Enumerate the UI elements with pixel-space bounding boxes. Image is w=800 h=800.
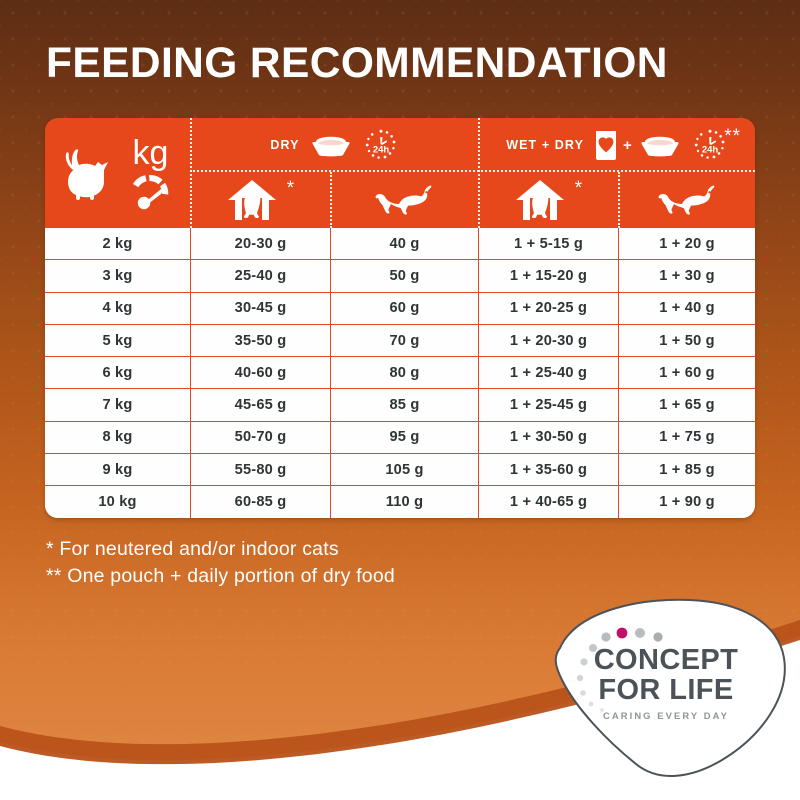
- footnote-1: * For neutered and/or indoor cats: [46, 536, 686, 563]
- table-cell-weight: 4 kg: [45, 293, 190, 324]
- 24h-clock-icon: 24h: [693, 128, 727, 162]
- table-cell-dry_active: 70 g: [330, 325, 478, 356]
- table-cell-wetdry_active: 1 + 30 g: [618, 260, 755, 291]
- table-cell-wetdry_indoor: 1 + 20-25 g: [478, 293, 618, 324]
- table-row: 2 kg20-30 g40 g1 + 5-15 g1 + 20 g: [45, 228, 755, 259]
- table-cell-wetdry_indoor: 1 + 25-40 g: [478, 357, 618, 388]
- table-cell-wetdry_indoor: 1 + 5-15 g: [478, 228, 618, 259]
- table-cell-wetdry_indoor: 1 + 30-50 g: [478, 422, 618, 453]
- food-bowl-icon: [638, 131, 682, 159]
- feeding-table: DRY: [45, 118, 755, 518]
- table-row: 8 kg50-70 g95 g1 + 30-50 g1 + 75 g: [45, 421, 755, 453]
- table-cell-weight: 7 kg: [45, 389, 190, 420]
- plus-symbol: +: [623, 137, 632, 154]
- table-cell-dry_active: 40 g: [330, 228, 478, 259]
- table-row: 5 kg35-50 g70 g1 + 20-30 g1 + 50 g: [45, 324, 755, 356]
- table-cell-wetdry_indoor: 1 + 20-30 g: [478, 325, 618, 356]
- food-bowl-icon: [309, 131, 353, 159]
- footnote-2: ** One pouch + daily portion of dry food: [46, 563, 686, 590]
- table-cell-wetdry_active: 1 + 90 g: [618, 486, 755, 517]
- table-cell-wetdry_indoor: 1 + 15-20 g: [478, 260, 618, 291]
- footnote-marker-single: *: [575, 179, 582, 198]
- table-cell-dry_active: 95 g: [330, 422, 478, 453]
- table-cell-dry_indoor: 60-85 g: [190, 486, 330, 517]
- table-row: 9 kg55-80 g105 g1 + 35-60 g1 + 85 g: [45, 453, 755, 485]
- header-cell-wetdry-indoor: *: [478, 172, 618, 228]
- table-row: 4 kg30-45 g60 g1 + 20-25 g1 + 40 g: [45, 292, 755, 324]
- 24h-clock-icon: 24h: [364, 128, 398, 162]
- table-cell-wetdry_active: 1 + 65 g: [618, 389, 755, 420]
- table-cell-dry_active: 50 g: [330, 260, 478, 291]
- weight-scale-icon: [128, 171, 174, 211]
- table-cell-dry_indoor: 40-60 g: [190, 357, 330, 388]
- footnote-marker-single: *: [287, 179, 294, 198]
- header-divider-v2: [330, 172, 332, 228]
- table-cell-wetdry_indoor: 1 + 35-60 g: [478, 454, 618, 485]
- table-cell-wetdry_indoor: 1 + 40-65 g: [478, 486, 618, 517]
- running-cat-icon: [658, 184, 716, 216]
- table-cell-weight: 10 kg: [45, 486, 190, 517]
- brand-logo: CONCEPT FOR LIFE CARING EVERY DAY: [540, 596, 792, 782]
- header-group-dry: DRY: [190, 118, 478, 172]
- table-cell-dry_indoor: 45-65 g: [190, 389, 330, 420]
- header-group-wet-dry: WET + DRY +: [478, 118, 755, 172]
- header-cell-wetdry-active: [618, 172, 755, 228]
- header-cell-weight: kg: [45, 118, 190, 228]
- dry-label: DRY: [270, 138, 299, 152]
- table-cell-wetdry_active: 1 + 75 g: [618, 422, 755, 453]
- footnote-marker-double: **: [724, 127, 741, 146]
- logo-blob-shape: [540, 596, 792, 782]
- table-header: DRY: [45, 118, 755, 228]
- weight-unit-label: kg: [133, 136, 169, 170]
- table-cell-dry_indoor: 25-40 g: [190, 260, 330, 291]
- table-cell-dry_active: 110 g: [330, 486, 478, 517]
- table-row: 10 kg60-85 g110 g1 + 40-65 g1 + 90 g: [45, 485, 755, 517]
- cat-icon: [62, 144, 124, 202]
- table-row: 6 kg40-60 g80 g1 + 25-40 g1 + 60 g: [45, 356, 755, 388]
- page-title: FEEDING RECOMMENDATION: [46, 40, 766, 88]
- table-cell-weight: 6 kg: [45, 357, 190, 388]
- header-cell-dry-active: [330, 172, 478, 228]
- table-cell-wetdry_indoor: 1 + 25-45 g: [478, 389, 618, 420]
- table-cell-weight: 2 kg: [45, 228, 190, 259]
- table-cell-wetdry_active: 1 + 60 g: [618, 357, 755, 388]
- table-header-subcolumns: kg: [45, 172, 755, 228]
- table-cell-wetdry_active: 1 + 85 g: [618, 454, 755, 485]
- table-cell-dry_active: 60 g: [330, 293, 478, 324]
- header-cell-dry-indoor: *: [190, 172, 330, 228]
- svg-text:24h: 24h: [702, 145, 719, 156]
- table-cell-dry_active: 80 g: [330, 357, 478, 388]
- header-divider-v4: [618, 172, 620, 228]
- header-divider-horizontal: [190, 170, 755, 172]
- table-body: 2 kg20-30 g40 g1 + 5-15 g1 + 20 g3 kg25-…: [45, 228, 755, 518]
- table-cell-wetdry_active: 1 + 50 g: [618, 325, 755, 356]
- table-cell-wetdry_active: 1 + 20 g: [618, 228, 755, 259]
- table-cell-dry_indoor: 30-45 g: [190, 293, 330, 324]
- header-divider-v3: [478, 118, 480, 228]
- table-cell-dry_indoor: 20-30 g: [190, 228, 330, 259]
- table-cell-weight: 9 kg: [45, 454, 190, 485]
- table-cell-dry_indoor: 35-50 g: [190, 325, 330, 356]
- table-cell-weight: 3 kg: [45, 260, 190, 291]
- table-cell-weight: 5 kg: [45, 325, 190, 356]
- table-cell-dry_active: 105 g: [330, 454, 478, 485]
- table-cell-wetdry_active: 1 + 40 g: [618, 293, 755, 324]
- table-cell-dry_indoor: 55-80 g: [190, 454, 330, 485]
- svg-text:24h: 24h: [372, 145, 389, 156]
- running-cat-icon: [375, 184, 433, 216]
- header-divider-v1: [190, 118, 192, 228]
- table-cell-dry_indoor: 50-70 g: [190, 422, 330, 453]
- feeding-recommendation-infographic: FEEDING RECOMMENDATION DRY: [0, 0, 800, 800]
- house-cat-icon: [226, 178, 280, 222]
- house-cat-icon: [514, 178, 568, 222]
- table-row: 3 kg25-40 g50 g1 + 15-20 g1 + 30 g: [45, 259, 755, 291]
- footnotes: * For neutered and/or indoor cats ** One…: [46, 536, 686, 590]
- table-cell-weight: 8 kg: [45, 422, 190, 453]
- wet-dry-label: WET + DRY: [506, 138, 584, 152]
- table-row: 7 kg45-65 g85 g1 + 25-45 g1 + 65 g: [45, 388, 755, 420]
- wet-food-pouch-icon: [593, 129, 619, 161]
- table-cell-dry_active: 85 g: [330, 389, 478, 420]
